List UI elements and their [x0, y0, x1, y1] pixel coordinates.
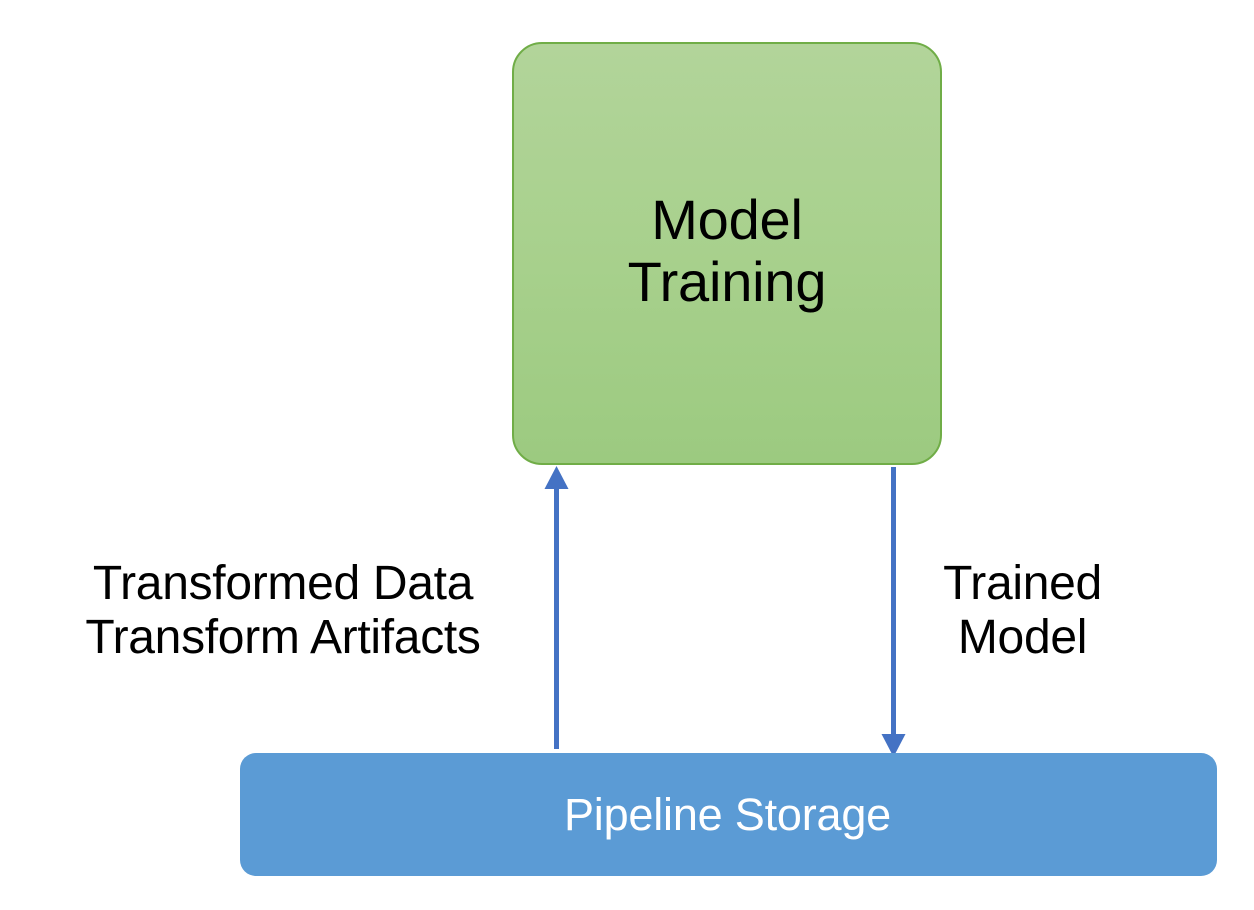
diagram-canvas: Model Training Transformed Data Transfor… — [0, 0, 1254, 910]
node-model-training[interactable]: Model Training — [512, 42, 942, 465]
edge-training-to-storage-arrow — [882, 467, 906, 757]
edge-storage-to-training-arrowhead — [545, 466, 569, 489]
node-model-training-label: Model Training — [628, 189, 827, 319]
edge-label-trained-model: Trained Model — [910, 557, 1135, 665]
node-pipeline-storage[interactable]: Pipeline Storage — [240, 753, 1217, 876]
edge-label-transformed-data: Transformed Data Transform Artifacts — [8, 557, 558, 665]
node-pipeline-storage-label: Pipeline Storage — [564, 789, 891, 841]
